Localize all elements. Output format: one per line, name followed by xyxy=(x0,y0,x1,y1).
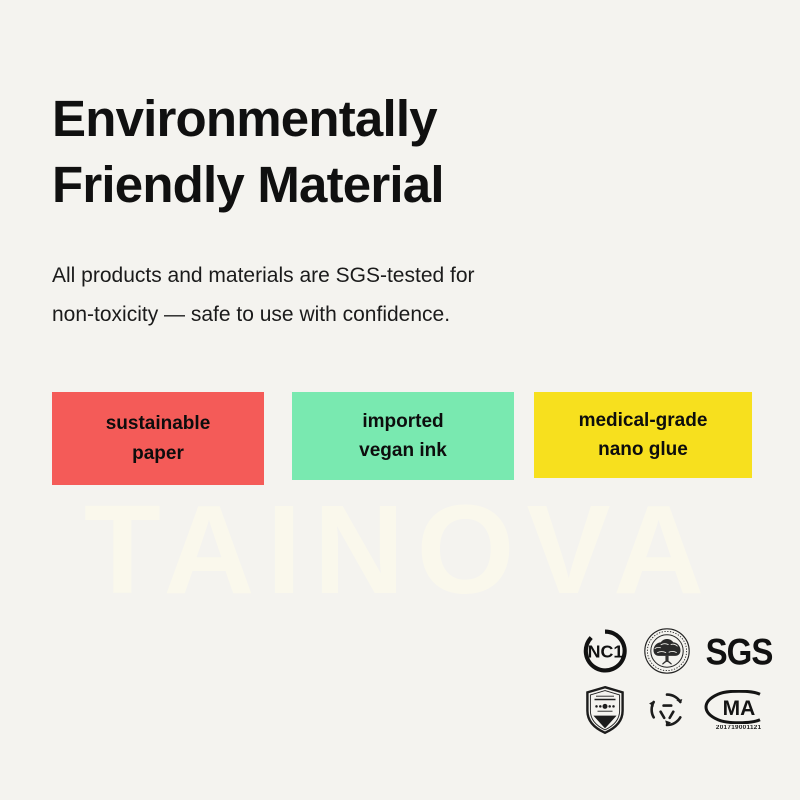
certification-badge-group: NC1 SGS xyxy=(574,622,780,744)
material-tag-line-2: nano glue xyxy=(598,435,688,464)
material-tag-sustainable-paper: sustainable paper xyxy=(52,392,264,485)
poster-canvas: TAINOVA Environmentally Friendly Materia… xyxy=(0,0,800,800)
material-tag-line-1: sustainable xyxy=(106,409,211,438)
page-subtitle: All products and materials are SGS-teste… xyxy=(52,257,652,335)
tree-seal-icon xyxy=(643,627,691,675)
cma-oval-icon: MA xyxy=(703,690,775,724)
forest-seal-certification-badge xyxy=(643,627,691,675)
material-tag-line-2: paper xyxy=(132,439,184,468)
recycle-arrows-icon xyxy=(644,687,690,733)
page-subtitle-line-1: All products and materials are SGS-teste… xyxy=(52,257,652,296)
material-tag-line-2: vegan ink xyxy=(359,436,447,465)
page-title-line-2: Friendly Material xyxy=(52,152,712,218)
sgs-wordmark-icon: SGS xyxy=(706,633,773,670)
svg-text:NC1: NC1 xyxy=(588,642,624,662)
material-tag-medical-grade-nano-glue: medical-grade nano glue xyxy=(534,392,752,478)
material-tag-group: sustainable paper imported vegan ink med… xyxy=(52,392,752,488)
page-title-line-1: Environmentally xyxy=(52,86,712,152)
material-tag-imported-vegan-ink: imported vegan ink xyxy=(292,392,514,480)
material-tag-line-1: imported xyxy=(362,407,443,436)
cma-certification-badge: MA 201719001121 xyxy=(703,690,775,731)
material-tag-line-1: medical-grade xyxy=(579,406,708,435)
nc1-circle-icon: NC1 xyxy=(582,628,628,674)
svg-text:MA: MA xyxy=(723,697,756,720)
shield-certification-badge xyxy=(584,685,626,735)
page-title: Environmentally Friendly Material xyxy=(52,86,712,219)
brand-watermark: TAINOVA xyxy=(0,487,800,613)
sgs-certification-badge: SGS xyxy=(706,635,773,668)
recycle-certification-badge xyxy=(644,687,690,733)
page-subtitle-line-2: non-toxicity — safe to use with confiden… xyxy=(52,296,652,335)
nc1-certification-badge: NC1 xyxy=(582,628,628,674)
cma-certificate-number: 201719001121 xyxy=(716,725,761,731)
shield-chevron-icon xyxy=(584,685,626,735)
